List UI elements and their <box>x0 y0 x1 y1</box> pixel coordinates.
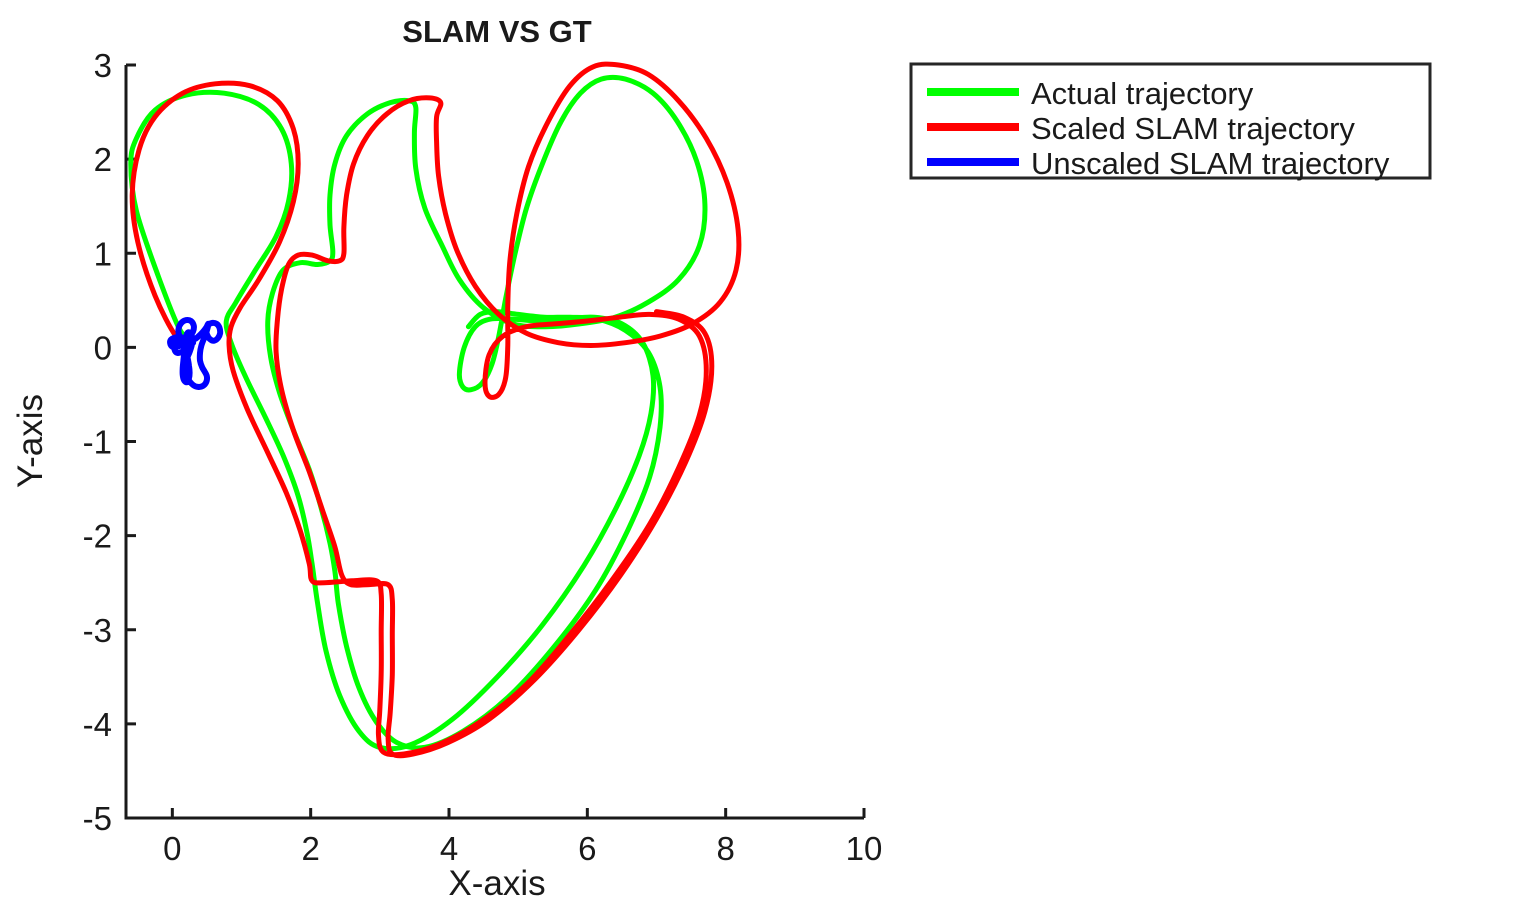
legend-label-0: Actual trajectory <box>1031 76 1254 111</box>
trajectory-scaled-slam-trajectory <box>132 64 739 756</box>
slam-vs-gt-chart: SLAM VS GT 0246810 3210-1-2-3-4-5 X-axis… <box>0 0 1520 915</box>
y-tick-label: -3 <box>83 612 112 649</box>
trajectory-unscaled-slam-trajectory <box>170 320 220 387</box>
y-tick-label: 3 <box>94 47 112 84</box>
trajectory-series-group <box>131 64 739 756</box>
x-tick-label: 2 <box>301 830 319 867</box>
x-tick-label: 10 <box>846 830 883 867</box>
y-axis-label: Y-axis <box>11 394 50 488</box>
legend: Actual trajectoryScaled SLAM trajectoryU… <box>911 64 1430 181</box>
x-tick-label: 0 <box>163 830 181 867</box>
y-tick-label: -1 <box>83 424 112 461</box>
axes-spines <box>126 65 864 818</box>
legend-label-2: Unscaled SLAM trajectory <box>1031 146 1390 181</box>
legend-label-1: Scaled SLAM trajectory <box>1031 111 1355 146</box>
y-axis-ticks: 3210-1-2-3-4-5 <box>83 47 136 837</box>
x-tick-label: 6 <box>578 830 596 867</box>
y-tick-label: 2 <box>94 141 112 178</box>
x-tick-label: 4 <box>440 830 458 867</box>
y-tick-label: 1 <box>94 235 112 272</box>
trajectory-actual-trajectory <box>131 77 705 748</box>
y-tick-label: -5 <box>83 800 112 837</box>
x-tick-label: 8 <box>716 830 734 867</box>
y-tick-label: -4 <box>83 706 112 743</box>
chart-title: SLAM VS GT <box>402 14 592 49</box>
y-tick-label: 0 <box>94 329 112 366</box>
axis-spine-path <box>126 65 864 818</box>
y-tick-label: -2 <box>83 518 112 555</box>
x-axis-label: X-axis <box>448 864 545 903</box>
figure-container: SLAM VS GT 0246810 3210-1-2-3-4-5 X-axis… <box>0 0 1520 915</box>
